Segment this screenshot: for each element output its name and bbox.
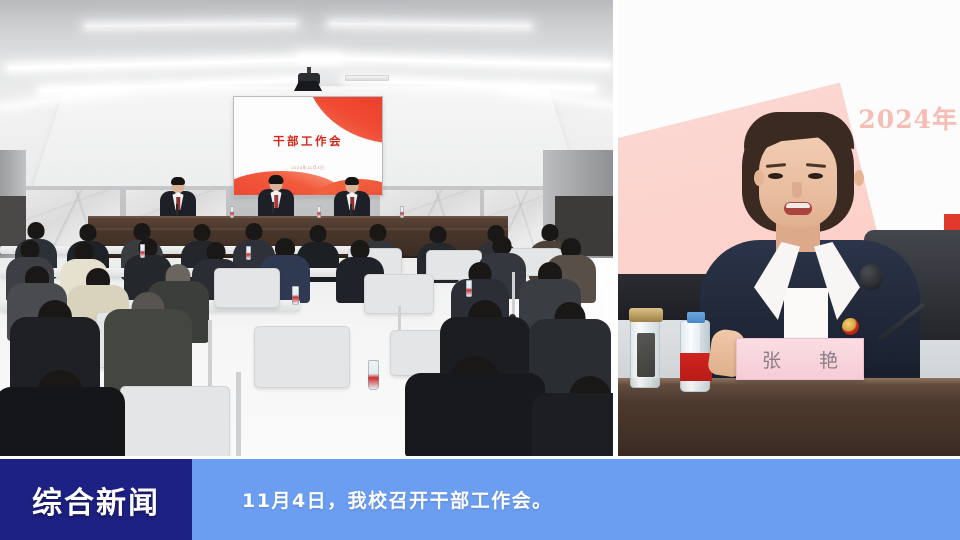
speaker-portrait-scene: 2024年	[618, 0, 960, 456]
water-bottle	[368, 360, 379, 390]
news-photo-card: 干部工作会 2024年11月4日	[0, 0, 960, 540]
screen-date: 2024年11月4日	[234, 165, 382, 171]
conference-room-scene: 干部工作会 2024年11月4日	[0, 0, 613, 456]
audience-member	[0, 370, 140, 456]
lapel-badge-icon	[842, 318, 859, 335]
water-bottle	[292, 286, 299, 305]
water-bottle	[317, 206, 321, 218]
name-plate-text: 张 艳	[746, 346, 854, 373]
water-bottle	[246, 246, 251, 260]
ear	[854, 170, 864, 186]
microphone-icon	[860, 264, 882, 290]
ceiling-light-strip	[300, 56, 610, 67]
water-bottle	[466, 280, 472, 297]
caption-body: 11月4日，我校召开干部工作会。	[192, 459, 960, 540]
water-bottle	[140, 244, 145, 258]
audience-member	[520, 376, 613, 456]
microphone-icon	[350, 204, 352, 215]
microphone-icon	[272, 202, 274, 213]
category-badge-label: 综合新闻	[32, 478, 160, 522]
screen-title: 干部工作会	[234, 133, 382, 149]
caption-headline: 11月4日，我校召开干部工作会。	[242, 486, 553, 513]
ceiling-vent	[345, 75, 389, 81]
chair-leg	[236, 372, 241, 456]
water-bottle	[400, 206, 404, 218]
microphone-icon	[176, 204, 178, 215]
eye	[768, 173, 783, 179]
chair-leg	[208, 320, 212, 394]
teeth	[786, 203, 810, 208]
bottle-cap	[687, 312, 705, 323]
conference-room-photo: 干部工作会 2024年11月4日	[0, 0, 613, 456]
water-bottle	[680, 320, 710, 392]
ceiling-light-strip	[8, 57, 338, 69]
water-bottle	[230, 206, 234, 218]
ceiling-projector-icon	[292, 73, 326, 97]
bottle-label	[680, 353, 712, 381]
desk	[618, 378, 960, 456]
thermos-cap	[629, 308, 663, 322]
photo-strip: 干部工作会 2024年11月4日	[0, 0, 960, 456]
name-plate: 张 艳	[736, 338, 864, 380]
caption-bar: 综合新闻 11月4日，我校召开干部工作会。	[0, 459, 960, 540]
audience-chair	[214, 268, 280, 308]
speaker-portrait-photo: 2024年	[618, 0, 960, 456]
eye	[808, 173, 823, 179]
ceiling-light-strip	[86, 23, 296, 28]
glass-thermos	[630, 318, 660, 388]
ear	[754, 170, 764, 186]
ceiling-light-strip	[330, 23, 530, 27]
nose	[792, 182, 802, 198]
category-badge[interactable]: 综合新闻	[0, 459, 192, 540]
audience-chair	[254, 326, 350, 388]
